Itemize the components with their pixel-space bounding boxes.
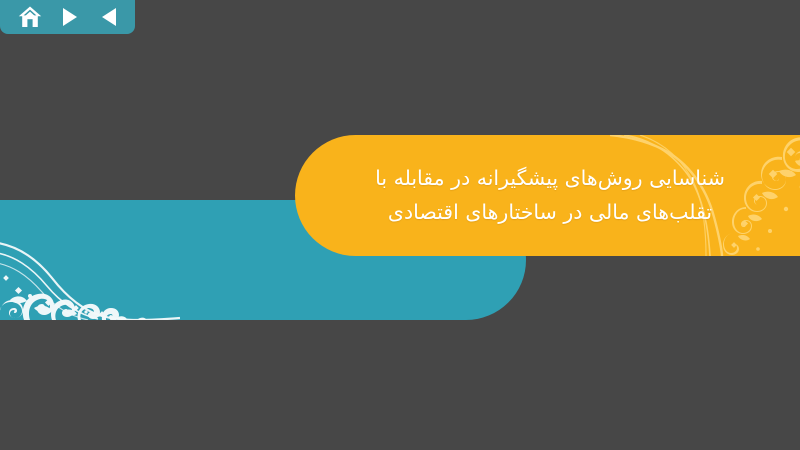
next-slide-button[interactable] xyxy=(55,4,85,30)
triangle-left-icon xyxy=(101,7,118,27)
home-button[interactable] xyxy=(15,4,45,30)
title-panel: شناسایی روش‌های پیشگیرانه در مقابله با ت… xyxy=(295,135,800,256)
navigation-bar xyxy=(0,0,135,34)
previous-slide-button[interactable] xyxy=(94,4,124,30)
slide-stage: شناسایی روش‌های پیشگیرانه در مقابله با ت… xyxy=(0,0,800,450)
page-title: شناسایی روش‌های پیشگیرانه در مقابله با ت… xyxy=(295,135,800,256)
home-icon xyxy=(18,6,42,28)
title-line-1: شناسایی روش‌های پیشگیرانه در مقابله با xyxy=(375,163,725,195)
arabesque-ornament xyxy=(0,200,180,320)
title-line-2: تقلب‌های مالی در ساختارهای اقتصادی xyxy=(388,197,712,229)
triangle-right-icon xyxy=(61,7,78,27)
